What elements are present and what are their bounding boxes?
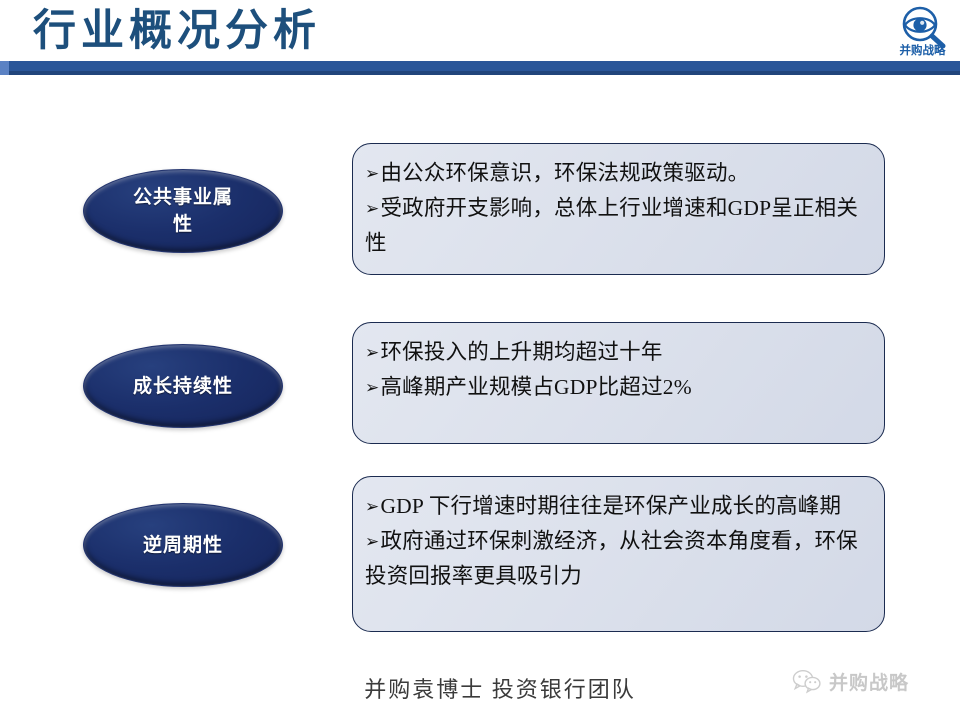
category-label-1: 公共事业属 性 <box>101 184 265 238</box>
content-row-3: 逆周期性 ➢GDP 下行增速时期往往是环保产业成长的高峰期 ➢政府通过环保刺激经… <box>0 476 960 632</box>
eye-magnifier-icon: 并购战略 <box>893 4 953 58</box>
category-ellipse-2[interactable]: 成长持续性 <box>83 344 283 428</box>
slide-canvas: 行业概况分析 并购战略 公共事业属 性 ➢由公众环保意识，环保法规政策驱动。 ➢… <box>0 0 960 720</box>
bullet-item: ➢环保投入的上升期均超过十年 <box>365 335 868 370</box>
bullet-marker-icon: ➢ <box>365 532 379 552</box>
bullet-item: ➢由公众环保意识，环保法规政策驱动。 <box>365 156 868 191</box>
bullet-text: 高峰期产业规模占GDP比超过2% <box>380 375 691 399</box>
brand-logo-text: 并购战略 <box>900 43 946 57</box>
bullet-item: ➢政府通过环保刺激经济，从社会资本角度看，环保投资回报率更具吸引力 <box>365 524 868 593</box>
bullet-marker-icon: ➢ <box>365 164 379 184</box>
bullet-item: ➢受政府开支影响，总体上行业增速和GDP呈正相关性 <box>365 191 868 260</box>
bullet-text: 政府通过环保刺激经济，从社会资本角度看，环保投资回报率更具吸引力 <box>365 529 858 588</box>
bullet-marker-icon: ➢ <box>365 378 379 398</box>
content-row-1: 公共事业属 性 ➢由公众环保意识，环保法规政策驱动。 ➢受政府开支影响，总体上行… <box>0 143 960 275</box>
bullet-text: 环保投入的上升期均超过十年 <box>380 340 662 364</box>
bullet-text: 由公众环保意识，环保法规政策驱动。 <box>380 161 749 185</box>
bullet-marker-icon: ➢ <box>365 497 379 517</box>
wechat-icon <box>792 668 822 694</box>
category-ellipse-1[interactable]: 公共事业属 性 <box>83 169 283 253</box>
bullet-item: ➢GDP 下行增速时期往往是环保产业成长的高峰期 <box>365 489 868 524</box>
bullet-marker-icon: ➢ <box>365 343 379 363</box>
watermark: 并购战略 <box>792 664 909 698</box>
bullet-text: 受政府开支影响，总体上行业增速和GDP呈正相关性 <box>365 196 858 255</box>
header-divider-shade <box>0 71 960 75</box>
bullet-marker-icon: ➢ <box>365 199 379 219</box>
bullet-item: ➢高峰期产业规模占GDP比超过2% <box>365 370 868 405</box>
callout-box-1[interactable]: ➢由公众环保意识，环保法规政策驱动。 ➢受政府开支影响，总体上行业增速和GDP呈… <box>352 143 885 275</box>
callout-box-3[interactable]: ➢GDP 下行增速时期往往是环保产业成长的高峰期 ➢政府通过环保刺激经济，从社会… <box>352 476 885 632</box>
page-title: 行业概况分析 <box>33 4 653 60</box>
bullet-text: GDP 下行增速时期往往是环保产业成长的高峰期 <box>380 494 841 518</box>
watermark-text: 并购战略 <box>829 668 909 695</box>
brand-logo: 并购战略 <box>893 4 953 58</box>
header-divider-accent-cap <box>0 61 9 75</box>
callout-box-2[interactable]: ➢环保投入的上升期均超过十年 ➢高峰期产业规模占GDP比超过2% <box>352 322 885 444</box>
category-label-3: 逆周期性 <box>111 532 255 559</box>
category-ellipse-3[interactable]: 逆周期性 <box>83 503 283 587</box>
footer-credit: 并购袁博士 投资银行团队 <box>300 672 700 704</box>
content-row-2: 成长持续性 ➢环保投入的上升期均超过十年 ➢高峰期产业规模占GDP比超过2% <box>0 322 960 444</box>
category-label-2: 成长持续性 <box>101 373 265 400</box>
